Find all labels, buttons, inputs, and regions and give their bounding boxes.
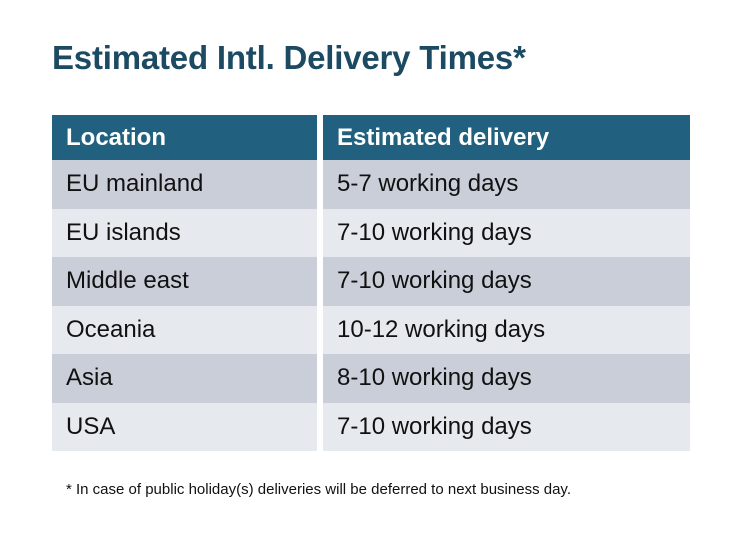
delivery-times-table: Location Estimated delivery EU mainland … — [52, 115, 690, 451]
cell-location: EU mainland — [52, 160, 317, 209]
table-row: EU islands 7-10 working days — [52, 209, 690, 258]
cell-delivery: 7-10 working days — [323, 257, 690, 306]
cell-delivery: 7-10 working days — [323, 403, 690, 452]
cell-location: Middle east — [52, 257, 317, 306]
page-title: Estimated Intl. Delivery Times* — [52, 38, 526, 78]
column-header-location: Location — [52, 115, 317, 160]
footnote: * In case of public holiday(s) deliverie… — [66, 480, 571, 500]
cell-delivery: 10-12 working days — [323, 306, 690, 355]
table-header-row: Location Estimated delivery — [52, 115, 690, 160]
cell-delivery: 7-10 working days — [323, 209, 690, 258]
cell-delivery: 8-10 working days — [323, 354, 690, 403]
table-row: USA 7-10 working days — [52, 403, 690, 452]
table-row: Middle east 7-10 working days — [52, 257, 690, 306]
cell-delivery: 5-7 working days — [323, 160, 690, 209]
cell-location: EU islands — [52, 209, 317, 258]
table-row: Oceania 10-12 working days — [52, 306, 690, 355]
table-row: EU mainland 5-7 working days — [52, 160, 690, 209]
table-row: Asia 8-10 working days — [52, 354, 690, 403]
column-header-estimated-delivery: Estimated delivery — [323, 115, 690, 160]
cell-location: Oceania — [52, 306, 317, 355]
delivery-times-page: Estimated Intl. Delivery Times* Location… — [0, 0, 745, 536]
cell-location: Asia — [52, 354, 317, 403]
cell-location: USA — [52, 403, 317, 452]
